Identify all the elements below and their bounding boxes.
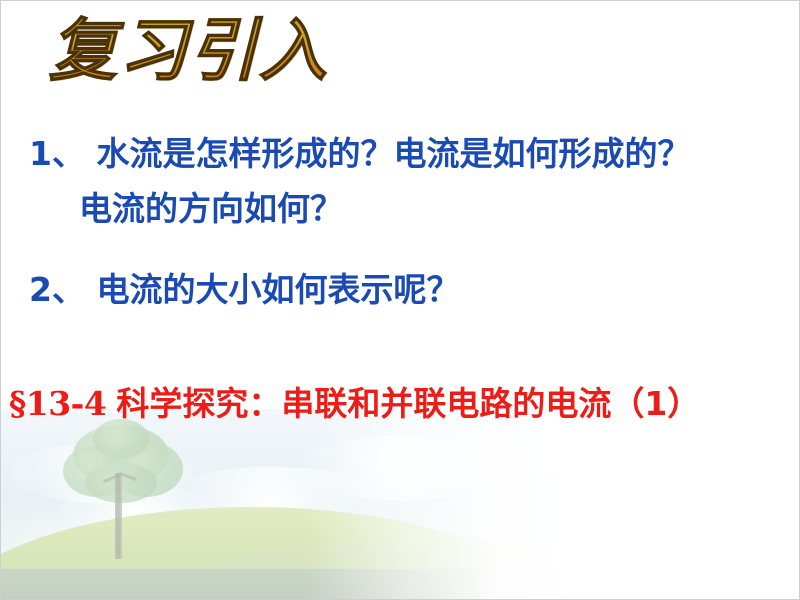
scenery-white-fade-overlay bbox=[1, 409, 800, 599]
review-question-list: 1、 水流是怎样形成的？电流是如何形成的？ 电流的方向如何？ 2、 电流的大小如… bbox=[1, 137, 800, 306]
question-1-line-1: 1、 水流是怎样形成的？电流是如何形成的？ bbox=[29, 137, 800, 170]
tree-icon bbox=[63, 419, 183, 559]
slide-title: 复习引入 bbox=[49, 9, 329, 94]
review-question-item-2: 2、 电流的大小如何表示呢？ bbox=[29, 273, 800, 306]
tree-branch bbox=[103, 474, 119, 483]
tree-canopy bbox=[73, 425, 169, 485]
cloud-shape bbox=[11, 443, 191, 503]
tree-canopy bbox=[63, 445, 131, 497]
grass-hill bbox=[1, 507, 561, 599]
tree-canopy bbox=[109, 441, 183, 497]
section-heading: §13-4科学探究：串联和并联电路的电流（1） bbox=[9, 387, 700, 420]
section-title-text: 科学探究：串联和并联电路的电流（1） bbox=[116, 384, 700, 423]
tree-canopy bbox=[85, 463, 157, 503]
question-1-line-2: 电流的方向如何？ bbox=[79, 192, 800, 225]
cloud-shape bbox=[61, 485, 211, 533]
section-number: §13-4 bbox=[9, 384, 106, 423]
grass-hill-secondary bbox=[151, 535, 671, 599]
cloud-shape bbox=[151, 467, 391, 537]
slide-canvas: 复习引入 1、 水流是怎样形成的？电流是如何形成的？ 电流的方向如何？ 2、 电… bbox=[0, 0, 800, 600]
review-question-item-1: 1、 水流是怎样形成的？电流是如何形成的？ 电流的方向如何？ bbox=[29, 137, 800, 225]
sky-layer bbox=[1, 409, 561, 599]
tree-branch bbox=[119, 472, 137, 481]
tree-trunk bbox=[115, 473, 122, 559]
cloud-shape bbox=[301, 435, 501, 501]
background-scenery-image bbox=[1, 409, 800, 599]
question-2-line-1: 2、 电流的大小如何表示呢？ bbox=[29, 273, 800, 306]
foreground-ground bbox=[1, 569, 561, 599]
tree-canopy bbox=[93, 419, 149, 459]
